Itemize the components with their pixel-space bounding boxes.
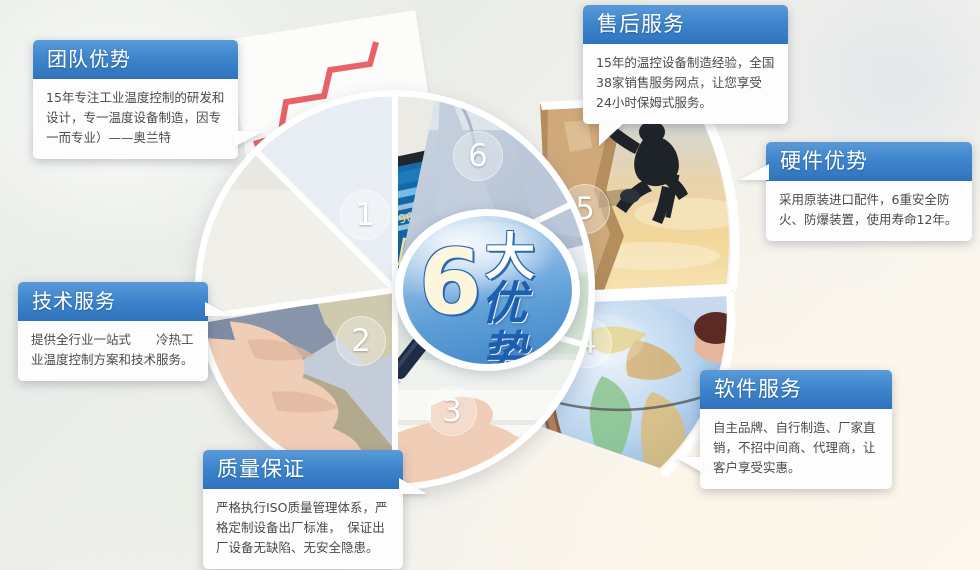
callout-card-technical[interactable]: 技术服务 提供全行业一站式 冷热工业温度控制方案和技术服务。 xyxy=(18,282,208,381)
callout-tail-after-sales xyxy=(599,122,625,146)
callout-card-quality[interactable]: 质量保证 严格执行ISO质量管理体系，严格定制设备出厂标准， 保证出厂设备无缺陷… xyxy=(203,450,403,569)
card-title-hardware: 硬件优势 xyxy=(766,142,972,181)
callout-tail-technical xyxy=(205,302,231,316)
card-body-after-sales: 15年的温控设备制造经验，全国38家销售服务网点，让您享受24小时保姆式服务。 xyxy=(583,44,788,124)
infographic-canvas: 5 4 xyxy=(0,0,980,570)
segment-badge-3[interactable]: 3 xyxy=(427,386,477,436)
segment-badge-1[interactable]: 1 xyxy=(340,190,390,240)
card-title-after-sales: 售后服务 xyxy=(583,5,788,44)
card-body-software: 自主品牌、自行制造、厂家直销，不招中间商、代理商，让客户享受实惠。 xyxy=(700,409,892,489)
card-title-software: 软件服务 xyxy=(700,370,892,409)
card-title-quality: 质量保证 xyxy=(203,450,403,489)
callout-tail-team xyxy=(234,131,264,147)
callout-card-team[interactable]: 团队优势 15年专注工业温度控制的研发和设计，专一温度设备制造，因专一而专业）—… xyxy=(33,40,238,159)
hub-number: 6 xyxy=(419,238,482,328)
callout-card-software[interactable]: 软件服务 自主品牌、自行制造、厂家直销，不招中间商、代理商，让客户享受实惠。 xyxy=(700,370,892,489)
card-title-team: 团队优势 xyxy=(33,40,238,79)
card-title-technical: 技术服务 xyxy=(18,282,208,321)
callout-tail-hardware xyxy=(739,164,769,180)
card-body-team: 15年专注工业温度控制的研发和设计，专一温度设备制造，因专一而专业）——奥兰特 xyxy=(33,79,238,159)
callout-tail-software xyxy=(675,457,703,473)
card-body-quality: 严格执行ISO质量管理体系，严格定制设备出厂标准， 保证出厂设备无缺陷、无安全隐… xyxy=(203,489,403,569)
hub-unit: 大 xyxy=(485,232,535,282)
hub-word: 优势 xyxy=(481,278,572,364)
card-body-technical: 提供全行业一站式 冷热工业温度控制方案和技术服务。 xyxy=(18,321,208,381)
center-hub: 6 大 优势 xyxy=(395,209,580,371)
card-body-hardware: 采用原装进口配件，6重安全防火、防爆装置，使用寿命12年。 xyxy=(766,181,972,241)
callout-card-hardware[interactable]: 硬件优势 采用原装进口配件，6重安全防火、防爆装置，使用寿命12年。 xyxy=(766,142,972,241)
segment-badge-6[interactable]: 6 xyxy=(453,131,503,181)
callout-tail-quality xyxy=(399,478,427,494)
callout-card-after-sales[interactable]: 售后服务 15年的温控设备制造经验，全国38家销售服务网点，让您享受24小时保姆… xyxy=(583,5,788,124)
segment-badge-2[interactable]: 2 xyxy=(336,316,386,366)
